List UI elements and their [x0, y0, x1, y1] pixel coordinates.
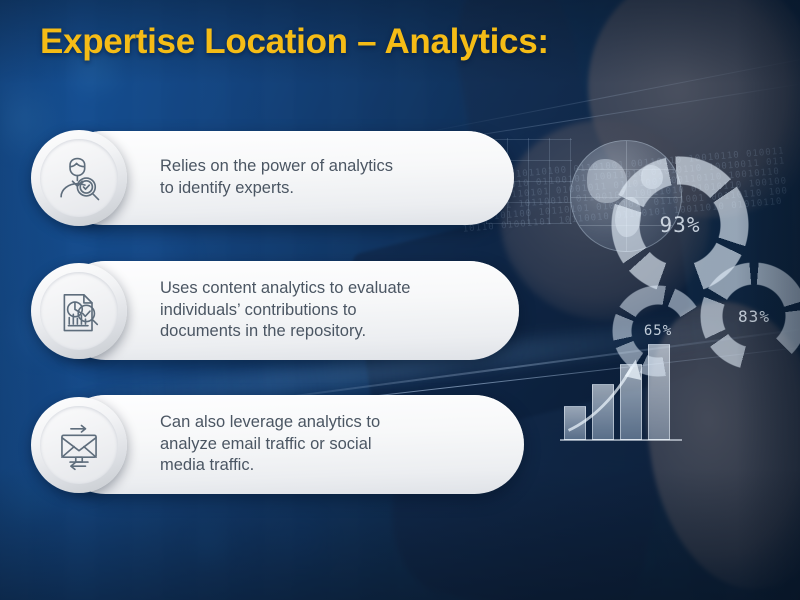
list-item-text: Can also leverage analytics to analyze e… — [160, 412, 380, 478]
document-analytics-search-check-icon — [40, 272, 118, 350]
page-title: Expertise Location – Analytics: — [40, 22, 549, 62]
email-monitor-traffic-icon — [40, 406, 118, 484]
person-search-check-icon — [40, 139, 118, 217]
list-item[interactable]: Uses content analytics to evaluate indiv… — [56, 261, 519, 360]
list-item-text: Uses content analytics to evaluate indiv… — [160, 278, 410, 344]
list-item-text: Relies on the power of analytics to iden… — [160, 156, 393, 200]
pill-icon-badge — [31, 263, 127, 359]
slide-canvas: 01001100 10110100 01101001 00110110 1001… — [0, 0, 800, 600]
list-item[interactable]: Can also leverage analytics to analyze e… — [56, 395, 524, 494]
list-item[interactable]: Relies on the power of analytics to iden… — [56, 131, 514, 225]
pill-icon-badge — [31, 130, 127, 226]
pill-icon-badge — [31, 397, 127, 493]
